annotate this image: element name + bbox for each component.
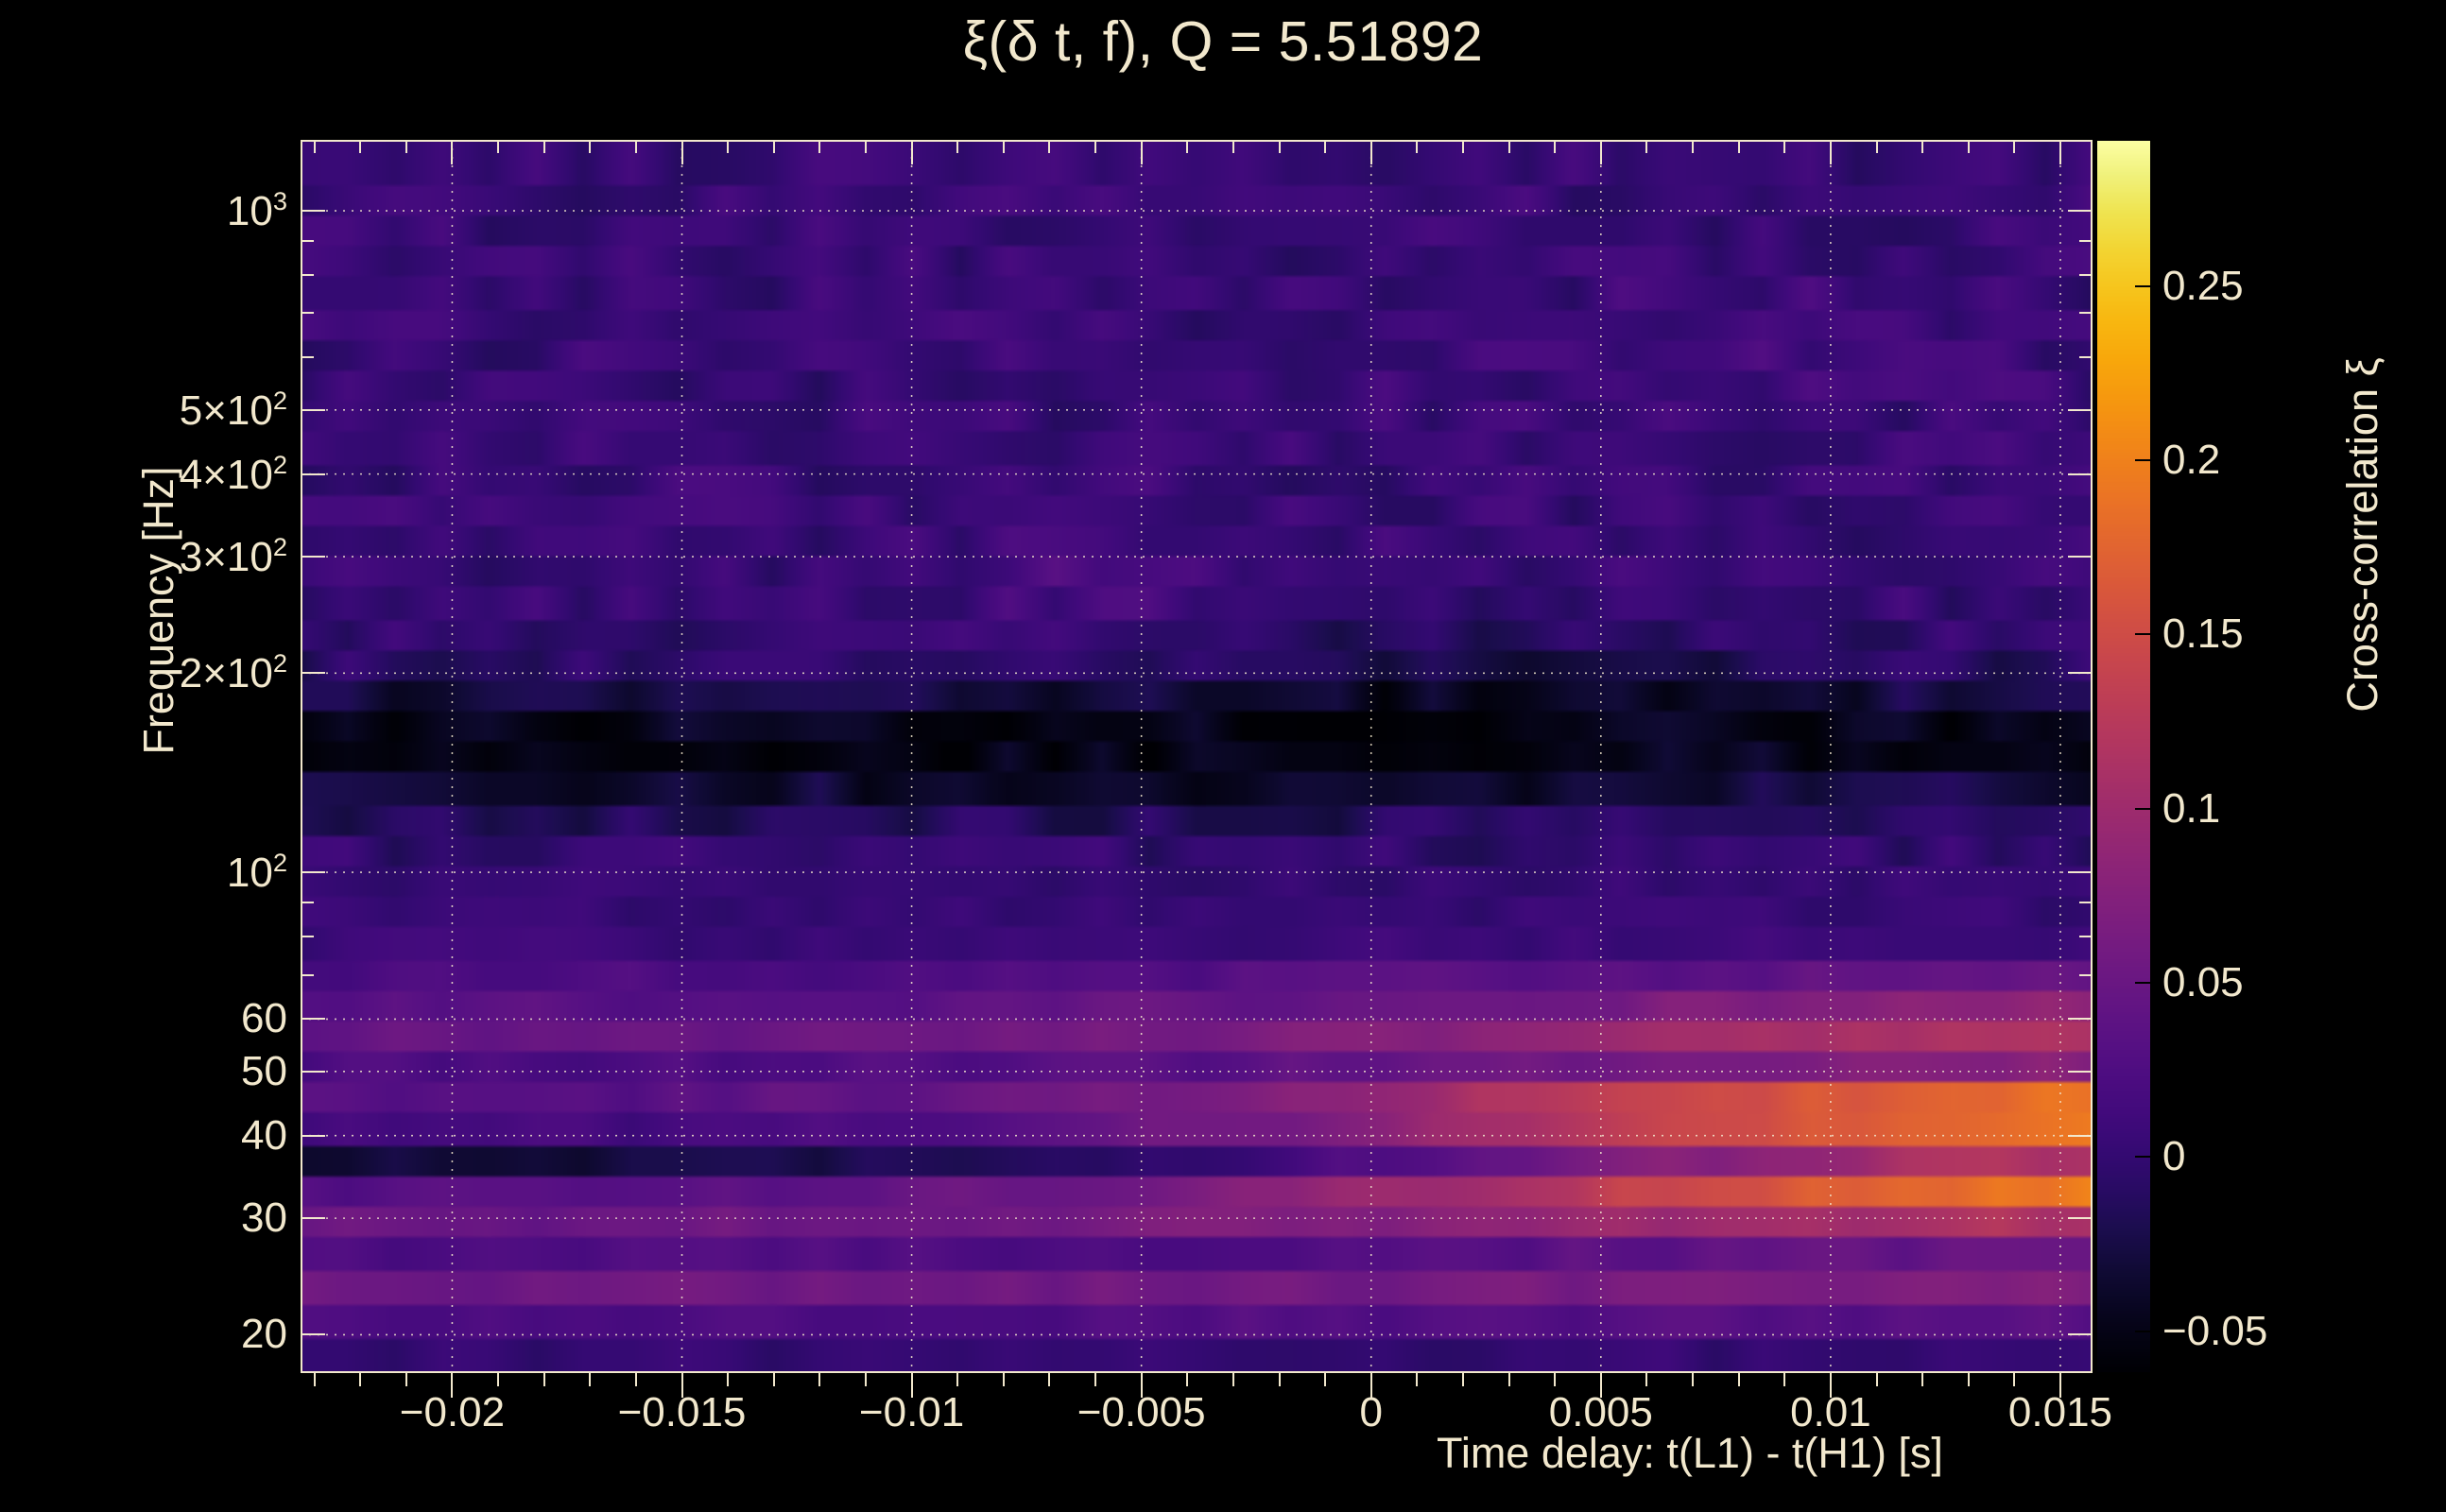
- x-axis-minor-tick-top: [1048, 140, 1050, 153]
- colorbar-tick-label: −0.05: [2162, 1308, 2267, 1355]
- x-axis-minor-tick-top: [1876, 140, 1878, 153]
- x-axis-minor-tick: [1783, 1373, 1785, 1386]
- colorbar-tick-mark: [2135, 459, 2151, 461]
- y-axis-tick-mark: [301, 210, 325, 212]
- y-axis-minor-tick-right: [2079, 312, 2093, 314]
- x-axis-tick-label: −0.005: [1077, 1389, 1206, 1436]
- y-axis-tick-label: 5×102: [180, 386, 287, 435]
- x-axis-minor-tick: [1048, 1373, 1050, 1386]
- y-axis-tick-mark: [301, 409, 325, 411]
- x-axis-minor-tick-top: [405, 140, 407, 153]
- x-axis-minor-tick-top: [1554, 140, 1556, 153]
- colorbar-tick-mark: [2135, 808, 2151, 810]
- y-axis-minor-tick: [301, 240, 314, 242]
- x-axis-minor-tick-top: [1645, 140, 1647, 153]
- x-axis-minor-tick: [956, 1373, 958, 1386]
- x-axis-minor-tick-top: [1921, 140, 1923, 153]
- y-axis-tick-mark: [301, 1018, 325, 1020]
- y-axis-minor-tick-right: [2079, 240, 2093, 242]
- x-axis-minor-tick-top: [1738, 140, 1740, 153]
- colorbar-tick-mark: [2135, 982, 2151, 984]
- y-axis-tick-mark: [301, 672, 325, 674]
- x-axis-minor-tick: [1094, 1373, 1096, 1386]
- y-axis-tick-label: 40: [241, 1112, 287, 1160]
- y-axis-tick-label: 4×102: [180, 450, 287, 499]
- x-axis-tick-label: −0.01: [859, 1389, 964, 1436]
- y-axis-tick-label: 60: [241, 995, 287, 1042]
- y-axis-tick-mark-right: [2068, 1018, 2093, 1020]
- x-axis-minor-tick: [1692, 1373, 1694, 1386]
- x-axis-minor-tick: [1324, 1373, 1326, 1386]
- y-axis-tick-label: 20: [241, 1311, 287, 1358]
- colorbar-title: Cross-correlation ξ: [2338, 147, 2387, 922]
- x-axis-tick-mark-top: [1600, 140, 1602, 164]
- y-axis-minor-tick: [301, 356, 314, 358]
- y-axis-tick-mark: [301, 1217, 325, 1219]
- x-axis-minor-tick: [773, 1373, 775, 1386]
- x-axis-minor-tick: [635, 1373, 637, 1386]
- x-axis-minor-tick-top: [1003, 140, 1005, 153]
- y-axis-tick-label: 3×102: [180, 532, 287, 581]
- y-axis-tick-mark: [301, 1071, 325, 1073]
- x-axis-minor-tick-top: [1186, 140, 1188, 153]
- x-axis-minor-tick-top: [543, 140, 545, 153]
- colorbar-tick-mark: [2135, 1331, 2151, 1332]
- y-axis-tick-label: 50: [241, 1048, 287, 1095]
- x-axis-minor-tick: [1968, 1373, 1970, 1386]
- x-axis-minor-tick: [1279, 1373, 1281, 1386]
- x-axis-minor-tick-top: [1416, 140, 1418, 153]
- y-axis-minor-tick: [301, 974, 314, 976]
- y-axis-tick-mark-right: [2068, 1135, 2093, 1137]
- y-axis-minor-tick: [301, 312, 314, 314]
- x-axis-title: Time delay: t(L1) - t(H1) [s]: [1437, 1429, 2098, 1478]
- x-axis-tick-mark-top: [1830, 140, 1832, 164]
- x-axis-minor-tick: [1508, 1373, 1510, 1386]
- x-axis-minor-tick: [1416, 1373, 1418, 1386]
- y-axis-minor-tick-right: [2079, 936, 2093, 937]
- colorbar-tick-label: 0.1: [2162, 785, 2220, 833]
- x-axis-minor-tick: [1003, 1373, 1005, 1386]
- x-axis-minor-tick-top: [589, 140, 591, 153]
- x-axis-minor-tick-top: [956, 140, 958, 153]
- y-axis-tick-mark-right: [2068, 409, 2093, 411]
- x-axis-tick-label: −0.015: [618, 1389, 747, 1436]
- x-axis-minor-tick: [1462, 1373, 1464, 1386]
- y-axis-tick-mark: [301, 1333, 325, 1335]
- x-axis-minor-tick-top: [1968, 140, 1970, 153]
- x-axis-minor-tick-top: [1508, 140, 1510, 153]
- x-axis-minor-tick-top: [1462, 140, 1464, 153]
- colorbar-tick-label: 0.15: [2162, 610, 2244, 658]
- x-axis-minor-tick: [2013, 1373, 2015, 1386]
- y-axis-tick-label: 30: [241, 1194, 287, 1242]
- y-axis-minor-tick-right: [2079, 902, 2093, 903]
- y-axis-minor-tick-right: [2079, 274, 2093, 276]
- y-axis-tick-mark-right: [2068, 1071, 2093, 1073]
- y-axis-tick-label: 2×102: [180, 649, 287, 698]
- colorbar-tick-label: 0: [2162, 1133, 2185, 1180]
- x-axis-minor-tick-top: [727, 140, 729, 153]
- x-axis-tick-label: −0.02: [400, 1389, 505, 1436]
- x-axis-minor-tick: [727, 1373, 729, 1386]
- y-axis-tick-mark-right: [2068, 871, 2093, 873]
- x-axis-tick-mark-top: [1141, 140, 1143, 164]
- x-axis-minor-tick: [314, 1373, 316, 1386]
- colorbar-tick-mark: [2135, 285, 2151, 287]
- heatmap-image: [301, 140, 2093, 1373]
- x-axis-minor-tick-top: [2013, 140, 2015, 153]
- x-axis-tick-mark-top: [451, 140, 453, 164]
- y-axis-tick-mark: [301, 473, 325, 475]
- x-axis-minor-tick: [1232, 1373, 1234, 1386]
- x-axis-minor-tick-top: [1279, 140, 1281, 153]
- x-axis-minor-tick-top: [773, 140, 775, 153]
- x-axis-minor-tick: [818, 1373, 820, 1386]
- y-axis-title: Frequency [Hz]: [134, 318, 183, 903]
- y-axis-title-container: Frequency [Hz]: [91, 94, 147, 756]
- y-axis-tick-mark: [301, 871, 325, 873]
- y-axis-minor-tick: [301, 274, 314, 276]
- y-axis-tick-label: 103: [227, 186, 287, 235]
- y-axis-tick-mark-right: [2068, 1217, 2093, 1219]
- x-axis-tick-mark-top: [1370, 140, 1372, 164]
- y-axis-minor-tick: [301, 902, 314, 903]
- plot-canvas: ξ(δ t, f), Q = 5.51892 20304050601022×10…: [0, 0, 2446, 1512]
- x-axis-tick-mark-top: [2059, 140, 2061, 164]
- x-axis-minor-tick-top: [359, 140, 361, 153]
- x-axis-minor-tick: [1738, 1373, 1740, 1386]
- x-axis-minor-tick: [405, 1373, 407, 1386]
- y-axis-tick-mark-right: [2068, 672, 2093, 674]
- colorbar-tick-label: 0.05: [2162, 959, 2244, 1006]
- y-axis-minor-tick-right: [2079, 356, 2093, 358]
- x-axis-minor-tick-top: [1094, 140, 1096, 153]
- y-axis-tick-mark-right: [2068, 473, 2093, 475]
- y-axis-tick-mark: [301, 556, 325, 558]
- x-axis-tick-mark-top: [681, 140, 683, 164]
- y-axis-tick-label: 102: [227, 848, 287, 897]
- x-axis-minor-tick: [359, 1373, 361, 1386]
- x-axis-minor-tick-top: [314, 140, 316, 153]
- x-axis-minor-tick: [1876, 1373, 1878, 1386]
- colorbar-title-container: Cross-correlation ξ: [2334, 142, 2391, 917]
- x-axis-minor-tick-top: [1692, 140, 1694, 153]
- x-axis-minor-tick-top: [1783, 140, 1785, 153]
- heatmap-plot-area: [301, 140, 2093, 1373]
- x-axis-minor-tick-top: [635, 140, 637, 153]
- colorbar-tick-mark: [2135, 1156, 2151, 1158]
- x-axis-minor-tick-top: [865, 140, 867, 153]
- x-axis-minor-tick: [1921, 1373, 1923, 1386]
- x-axis-minor-tick: [1186, 1373, 1188, 1386]
- x-axis-minor-tick-top: [818, 140, 820, 153]
- x-axis-minor-tick: [1645, 1373, 1647, 1386]
- y-axis-tick-mark-right: [2068, 556, 2093, 558]
- colorbar-tick-label: 0.2: [2162, 437, 2220, 484]
- y-axis-minor-tick: [301, 936, 314, 937]
- x-axis-minor-tick: [497, 1373, 499, 1386]
- x-axis-minor-tick-top: [1324, 140, 1326, 153]
- page-title: ξ(δ t, f), Q = 5.51892: [0, 9, 2446, 74]
- y-axis-tick-mark-right: [2068, 210, 2093, 212]
- colorbar-gradient: [2096, 140, 2151, 1373]
- y-axis-minor-tick-right: [2079, 974, 2093, 976]
- x-axis-minor-tick: [865, 1373, 867, 1386]
- colorbar-tick-label: 0.25: [2162, 263, 2244, 310]
- x-axis-minor-tick-top: [1232, 140, 1234, 153]
- x-axis-minor-tick: [543, 1373, 545, 1386]
- y-axis-tick-mark-right: [2068, 1333, 2093, 1335]
- x-axis-minor-tick: [589, 1373, 591, 1386]
- y-axis-tick-mark: [301, 1135, 325, 1137]
- x-axis-tick-mark-top: [911, 140, 913, 164]
- x-axis-minor-tick-top: [497, 140, 499, 153]
- colorbar-tick-mark: [2135, 633, 2151, 635]
- x-axis-minor-tick: [1554, 1373, 1556, 1386]
- x-axis-tick-label: 0: [1359, 1389, 1382, 1436]
